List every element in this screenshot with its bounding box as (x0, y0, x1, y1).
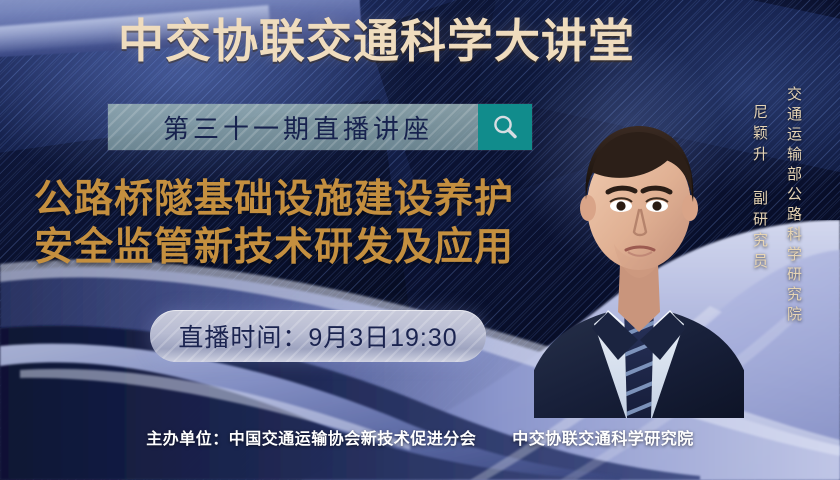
speaker-portrait (534, 88, 744, 418)
footer-organizers: 主办单位：中国交通运输协会新技术促进分会 中交协联交通科学研究院 (0, 425, 840, 449)
search-icon (490, 112, 520, 142)
portrait-illustration (534, 88, 744, 418)
lecture-title-line-2: 安全监管新技术研发及应用 (34, 224, 514, 272)
speaker-organization: 交通运输部公路科学研究院 (783, 86, 804, 326)
livestream-poster: 中交协联交通科学大讲堂 第三十一期直播讲座 公路桥隧基础设施建设养护 安全监管新… (0, 0, 840, 480)
lecture-title-line-1: 公路桥隧基础设施建设养护 (34, 176, 514, 224)
broadcast-time-badge: 直播时间：9月3日19:30 (150, 310, 486, 362)
footer-organizer-secondary: 中交协联交通科学研究院 (512, 431, 694, 448)
lecture-title: 公路桥隧基础设施建设养护 安全监管新技术研发及应用 (34, 176, 514, 271)
search-icon-container[interactable] (478, 104, 532, 150)
footer-organizer-primary: 主办单位：中国交通运输协会新技术促进分会 (146, 431, 476, 448)
broadcast-time-label: 直播时间：9月3日19:30 (178, 318, 457, 354)
episode-bar: 第三十一期直播讲座 (108, 104, 532, 150)
episode-label: 第三十一期直播讲座 (108, 104, 478, 150)
speaker-name-title: 尼颖升 副研究员 (749, 104, 770, 274)
page-title: 中交协联交通科学大讲堂 (118, 18, 635, 64)
